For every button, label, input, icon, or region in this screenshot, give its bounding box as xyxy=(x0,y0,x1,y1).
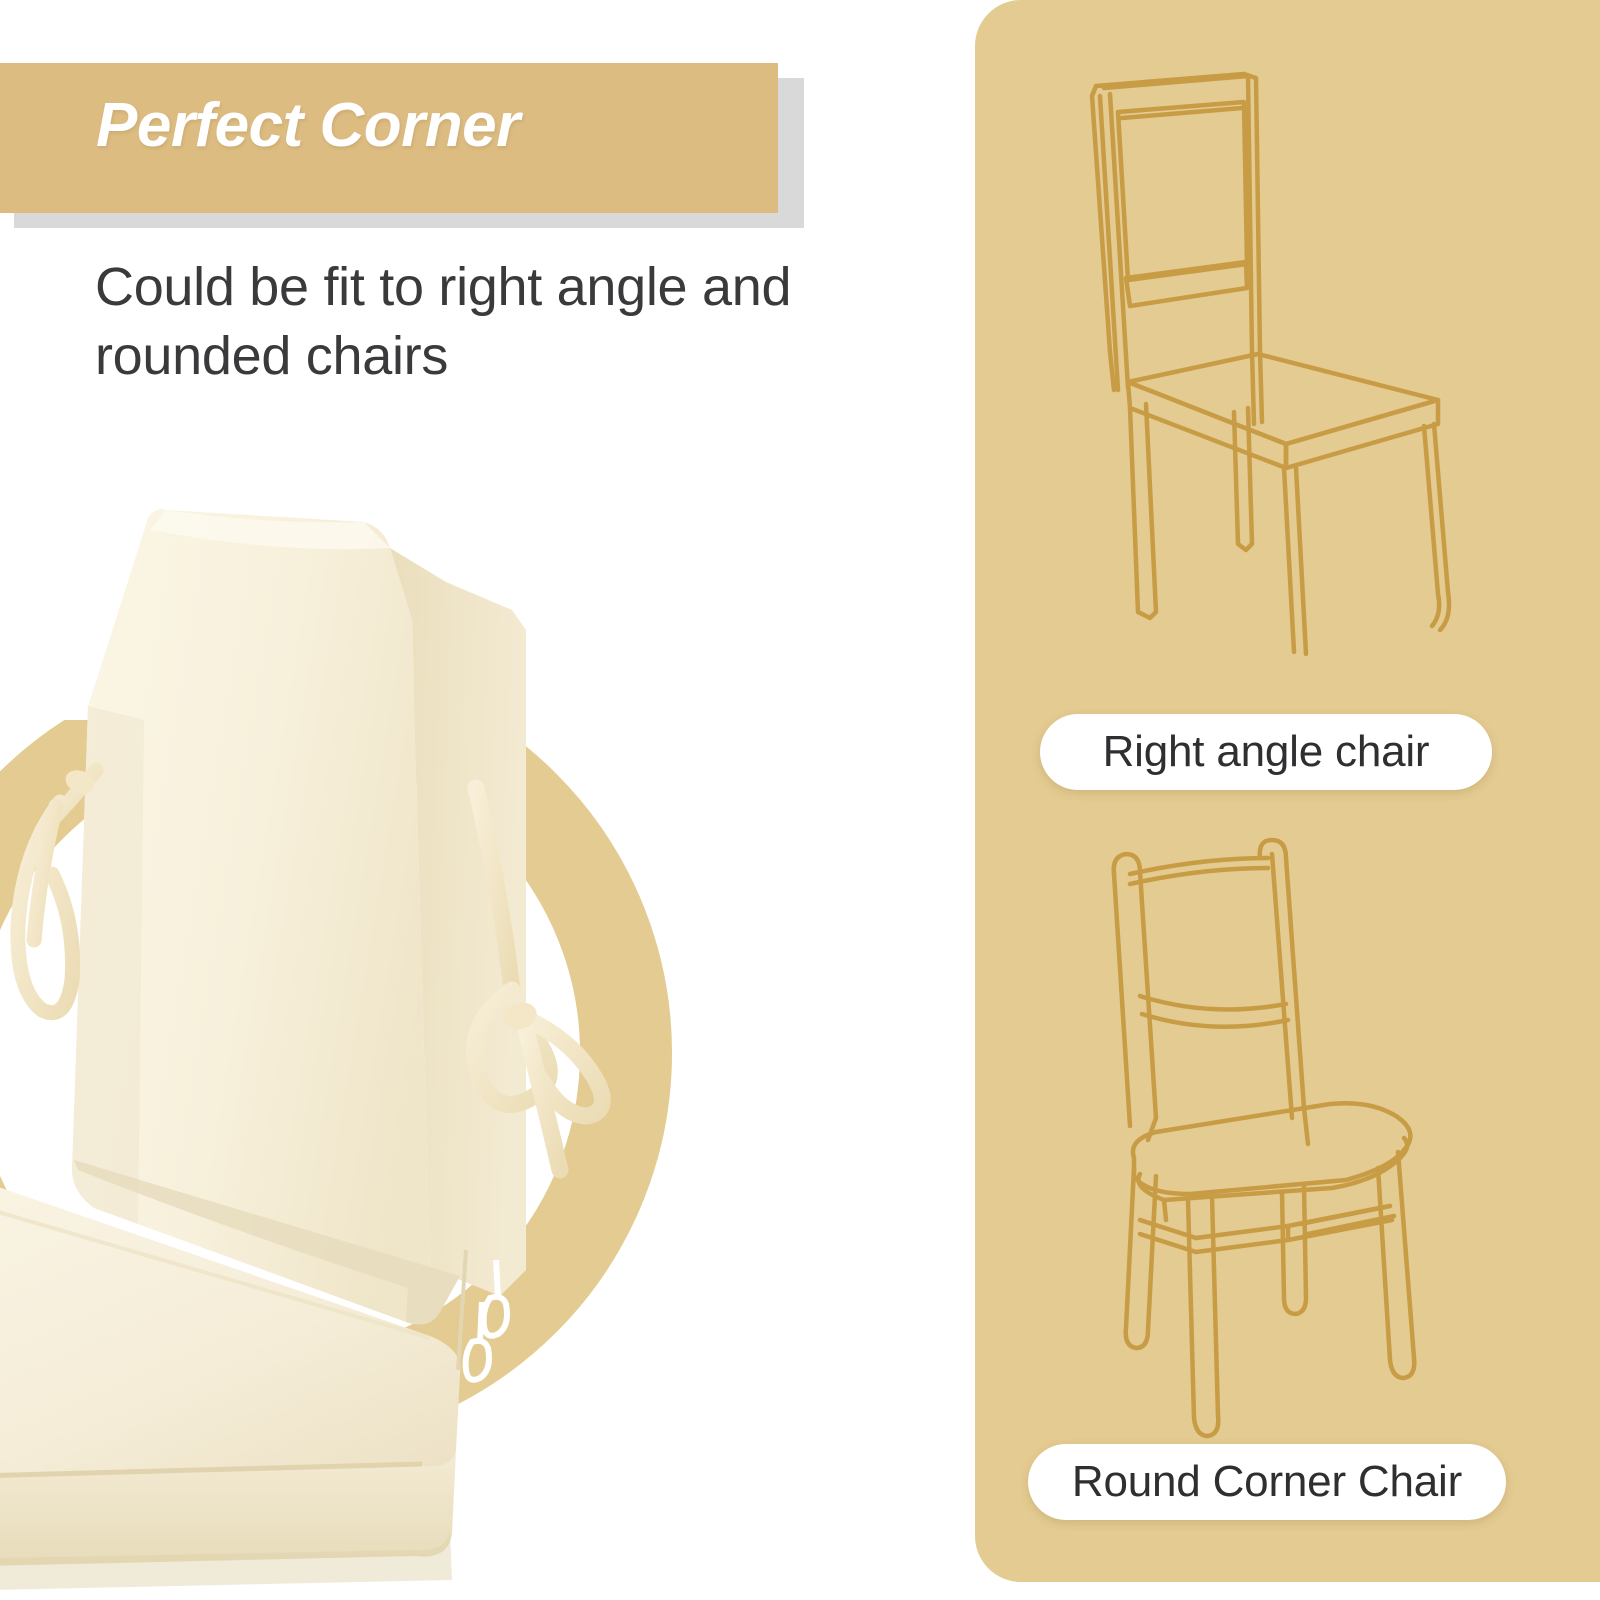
label-round-corner-chair-text: Round Corner Chair xyxy=(1072,1457,1462,1507)
right-angle-chair-illustration xyxy=(1048,52,1448,662)
page-subtitle: Could be fit to right angle and rounded … xyxy=(95,253,925,391)
label-right-angle-chair: Right angle chair xyxy=(1040,714,1492,790)
round-corner-chair-illustration xyxy=(1060,828,1460,1448)
page-title: Perfect Corner xyxy=(96,90,520,161)
product-image-chair-cushion xyxy=(0,470,720,1600)
label-right-angle-chair-text: Right angle chair xyxy=(1103,727,1430,777)
back-cushion xyxy=(72,509,526,1324)
label-round-corner-chair: Round Corner Chair xyxy=(1028,1444,1506,1520)
marketing-banner-canvas: Perfect Corner Could be fit to right ang… xyxy=(0,0,1600,1600)
